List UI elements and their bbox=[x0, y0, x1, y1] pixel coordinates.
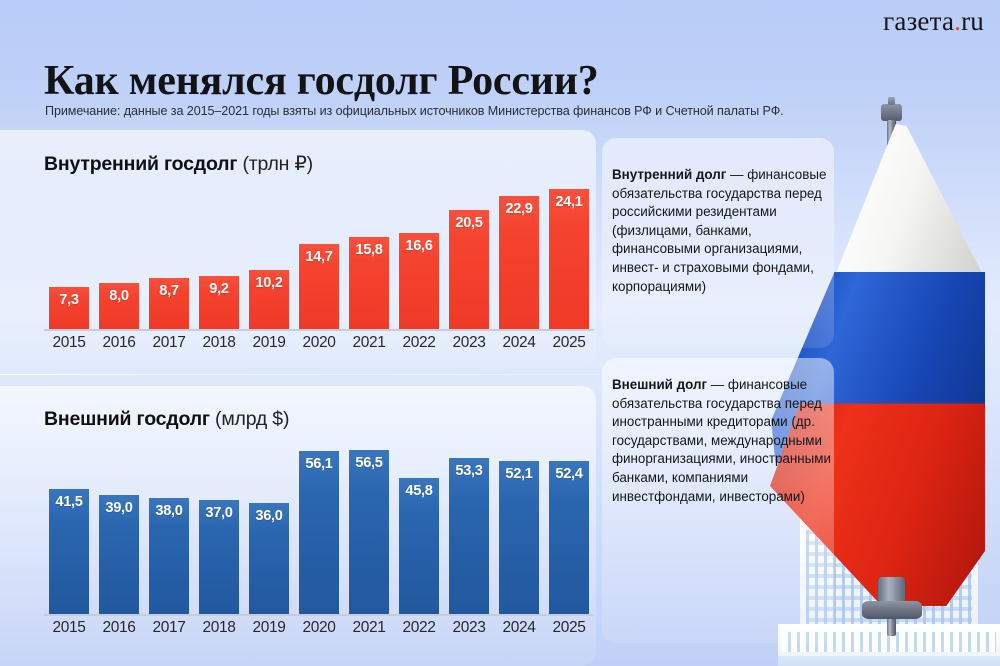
bar-column: 36,0 bbox=[244, 450, 294, 614]
bar-column: 9,2 bbox=[194, 189, 244, 329]
bar: 20,5 bbox=[449, 210, 489, 329]
x-axis-tick-label: 2022 bbox=[394, 334, 444, 352]
external-debt-unit-label: (млрд $) bbox=[215, 408, 289, 430]
x-axis-tick-label: 2024 bbox=[494, 619, 544, 637]
bar-column: 39,0 bbox=[94, 450, 144, 614]
bar-value-label: 22,9 bbox=[505, 201, 532, 217]
bar: 53,3 bbox=[449, 458, 489, 614]
x-axis-tick-label: 2023 bbox=[444, 334, 494, 352]
x-axis-tick-label: 2016 bbox=[94, 619, 144, 637]
bar-column: 56,5 bbox=[344, 450, 394, 614]
bar-column: 8,7 bbox=[144, 189, 194, 329]
x-axis-tick-label: 2020 bbox=[294, 619, 344, 637]
bar: 56,1 bbox=[299, 451, 339, 614]
bar-value-label: 14,7 bbox=[305, 249, 332, 265]
bar: 39,0 bbox=[99, 495, 139, 614]
page-title: Как менялся госдолг России? bbox=[44, 60, 599, 102]
x-axis-tick-label: 2021 bbox=[344, 619, 394, 637]
external-debt-chart-title: Внешний госдолг (млрд $) bbox=[44, 408, 594, 431]
bar-value-label: 45,8 bbox=[405, 483, 432, 499]
section-divider bbox=[0, 374, 600, 375]
bar-value-label: 9,2 bbox=[209, 281, 228, 297]
bar-column: 52,1 bbox=[494, 450, 544, 614]
logo-domain: ru bbox=[961, 6, 984, 36]
bar-column: 24,1 bbox=[544, 189, 594, 329]
internal-debt-title-text: Внутренний госдолг bbox=[44, 153, 237, 175]
external-debt-dash: — bbox=[707, 377, 728, 392]
bar-value-label: 8,7 bbox=[159, 283, 178, 299]
bar-value-label: 39,0 bbox=[105, 500, 132, 516]
internal-debt-axis-line bbox=[44, 329, 594, 331]
x-axis-tick-label: 2021 bbox=[344, 334, 394, 352]
infographic-root: газета.ru Как менялся госдолг России? Пр… bbox=[0, 0, 1000, 666]
flag-pole-finial bbox=[881, 104, 902, 121]
bar-value-label: 56,1 bbox=[305, 456, 332, 472]
internal-debt-chart-title: Внутренний госдолг (трлн ₽) bbox=[44, 152, 594, 176]
x-axis-tick-label: 2022 bbox=[394, 619, 444, 637]
external-debt-term: Внешний долг bbox=[612, 377, 707, 392]
external-debt-x-axis-labels: 2015201620172018201920202021202220232024… bbox=[44, 619, 594, 637]
bar-value-label: 52,4 bbox=[555, 466, 582, 482]
bar-column: 56,1 bbox=[294, 450, 344, 614]
x-axis-tick-label: 2018 bbox=[194, 334, 244, 352]
external-debt-bars: 41,539,038,037,036,056,156,545,853,352,1… bbox=[44, 450, 594, 614]
bar: 15,8 bbox=[349, 237, 389, 329]
bar: 56,5 bbox=[349, 450, 389, 614]
x-axis-tick-label: 2017 bbox=[144, 619, 194, 637]
internal-debt-term: Внутренний долг bbox=[612, 167, 726, 182]
bar: 14,7 bbox=[299, 244, 339, 329]
bar: 24,1 bbox=[549, 189, 589, 329]
bar-value-label: 16,6 bbox=[405, 238, 432, 254]
x-axis-tick-label: 2017 bbox=[144, 334, 194, 352]
internal-debt-unit-label: (трлн ₽) bbox=[243, 153, 313, 175]
bar: 36,0 bbox=[249, 503, 289, 614]
bar-value-label: 53,3 bbox=[455, 463, 482, 479]
flag-pole-collar bbox=[878, 577, 905, 603]
x-axis-tick-label: 2015 bbox=[44, 619, 94, 637]
bar-value-label: 7,3 bbox=[59, 292, 78, 308]
bar: 8,0 bbox=[99, 283, 139, 329]
bar-column: 53,3 bbox=[444, 450, 494, 614]
source-note: Примечание: данные за 2015–2021 годы взя… bbox=[45, 104, 784, 118]
x-axis-tick-label: 2019 bbox=[244, 334, 294, 352]
internal-debt-definition: Внутренний долг — финансовые обязательст… bbox=[612, 166, 840, 296]
bar: 45,8 bbox=[399, 478, 439, 614]
external-debt-title-text: Внешний госдолг bbox=[44, 408, 210, 430]
bar-value-label: 38,0 bbox=[155, 503, 182, 519]
bar-column: 38,0 bbox=[144, 450, 194, 614]
bar-column: 41,5 bbox=[44, 450, 94, 614]
external-debt-definition-text: финансовые обязатель­ства государства пе… bbox=[612, 377, 831, 504]
x-axis-tick-label: 2023 bbox=[444, 619, 494, 637]
x-axis-tick-label: 2025 bbox=[544, 334, 594, 352]
bar-value-label: 52,1 bbox=[505, 466, 532, 482]
bar: 10,2 bbox=[249, 270, 289, 329]
logo-name: газета bbox=[883, 6, 954, 36]
x-axis-tick-label: 2016 bbox=[94, 334, 144, 352]
bar: 7,3 bbox=[49, 287, 89, 329]
x-axis-tick-label: 2018 bbox=[194, 619, 244, 637]
internal-debt-bars: 7,38,08,79,210,214,715,816,620,522,924,1 bbox=[44, 189, 594, 329]
bar-column: 45,8 bbox=[394, 450, 444, 614]
internal-debt-x-axis-labels: 2015201620172018201920202021202220232024… bbox=[44, 334, 594, 352]
bar-column: 52,4 bbox=[544, 450, 594, 614]
bar-value-label: 15,8 bbox=[355, 242, 382, 258]
gazeta-ru-logo[interactable]: газета.ru bbox=[883, 6, 984, 37]
external-debt-axis-line bbox=[44, 614, 594, 616]
flag-pole-base bbox=[862, 601, 922, 619]
bar-value-label: 36,0 bbox=[255, 508, 282, 524]
internal-debt-definition-text: финансовые обязательства государства пер… bbox=[612, 167, 826, 294]
bar: 41,5 bbox=[49, 489, 89, 614]
bar-column: 37,0 bbox=[194, 450, 244, 614]
x-axis-tick-label: 2020 bbox=[294, 334, 344, 352]
bar-value-label: 24,1 bbox=[555, 194, 582, 210]
x-axis-tick-label: 2025 bbox=[544, 619, 594, 637]
bar-value-label: 41,5 bbox=[55, 494, 82, 510]
external-debt-chart: Внешний госдолг (млрд $) 41,539,038,037,… bbox=[44, 408, 594, 643]
bar-column: 8,0 bbox=[94, 189, 144, 329]
bar: 38,0 bbox=[149, 498, 189, 614]
bar-value-label: 20,5 bbox=[455, 215, 482, 231]
bar-column: 7,3 bbox=[44, 189, 94, 329]
bar-column: 15,8 bbox=[344, 189, 394, 329]
bar-value-label: 56,5 bbox=[355, 455, 382, 471]
building-ground bbox=[778, 656, 1000, 666]
bar-column: 16,6 bbox=[394, 189, 444, 329]
bar: 52,1 bbox=[499, 461, 539, 614]
bar: 8,7 bbox=[149, 278, 189, 329]
bar: 9,2 bbox=[199, 276, 239, 329]
bar: 16,6 bbox=[399, 233, 439, 329]
internal-debt-chart: Внутренний госдолг (трлн ₽) 7,38,08,79,2… bbox=[44, 152, 594, 362]
bar: 37,0 bbox=[199, 500, 239, 614]
bar-value-label: 8,0 bbox=[109, 288, 128, 304]
x-axis-tick-label: 2015 bbox=[44, 334, 94, 352]
bar-column: 14,7 bbox=[294, 189, 344, 329]
bar-column: 10,2 bbox=[244, 189, 294, 329]
internal-debt-dash: — bbox=[726, 167, 747, 182]
bar: 22,9 bbox=[499, 196, 539, 329]
x-axis-tick-label: 2019 bbox=[244, 619, 294, 637]
external-debt-definition: Внешний долг — финансовые обязатель­ства… bbox=[612, 376, 840, 506]
bar-value-label: 37,0 bbox=[205, 505, 232, 521]
x-axis-tick-label: 2024 bbox=[494, 334, 544, 352]
bar-value-label: 10,2 bbox=[255, 275, 282, 291]
bar-column: 22,9 bbox=[494, 189, 544, 329]
bar: 52,4 bbox=[549, 461, 589, 614]
bar-column: 20,5 bbox=[444, 189, 494, 329]
